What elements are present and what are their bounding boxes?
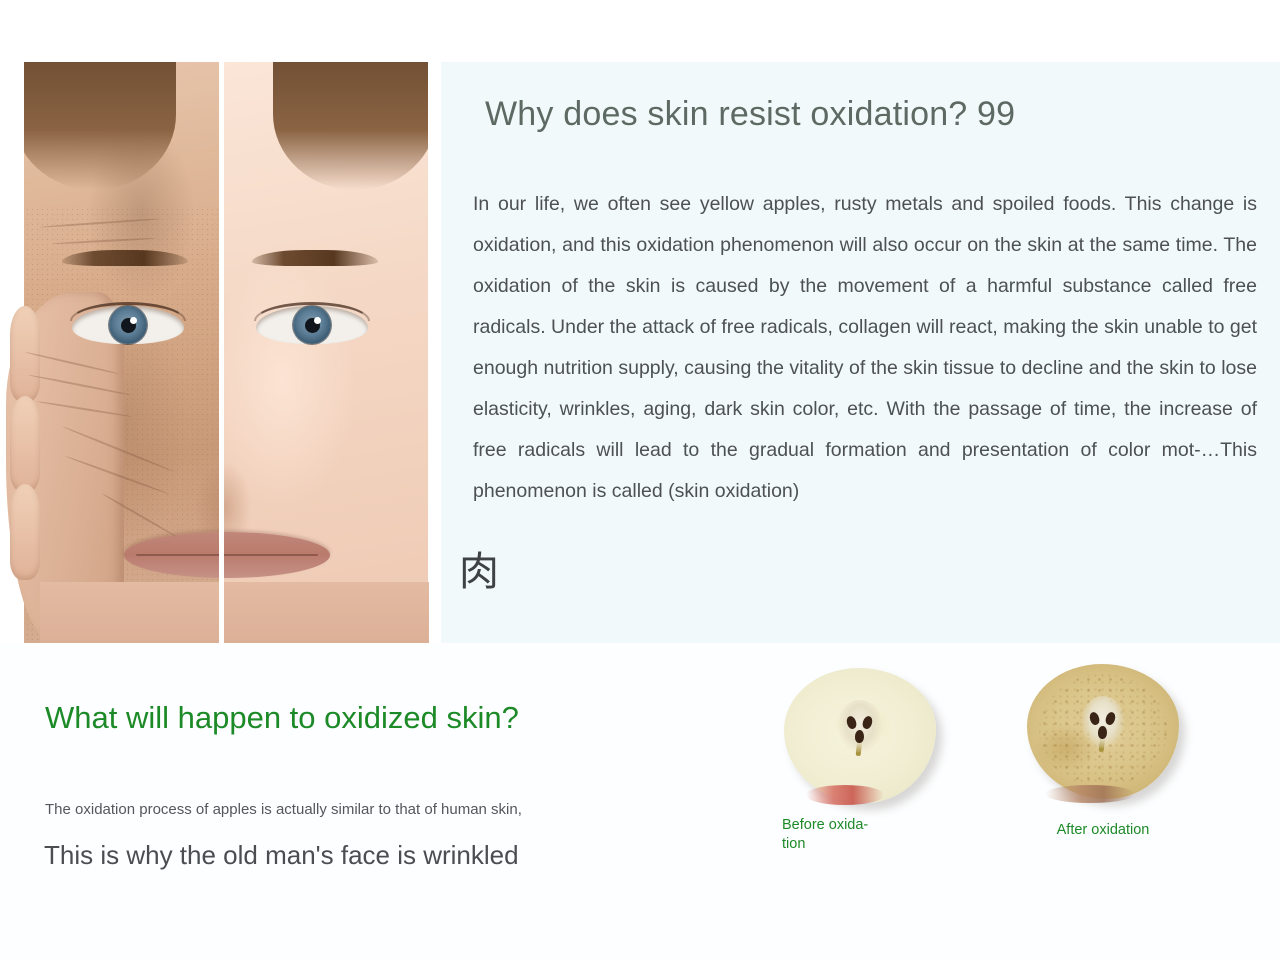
- neck: [40, 582, 429, 643]
- apple-skin: [806, 785, 884, 805]
- eyebrow-left: [62, 250, 188, 266]
- eye-left: [72, 300, 184, 350]
- apple-caption-after: After oxidation: [1018, 821, 1188, 840]
- top-section: Why does skin resist oxidation? 99 In ou…: [0, 0, 1280, 644]
- core-star: [1081, 696, 1125, 748]
- apple-figure-after: After oxidation: [1018, 658, 1188, 840]
- apple-core: [1081, 696, 1125, 748]
- wrinkle-conclusion-note: This is why the old man's face is wrinkl…: [44, 837, 519, 873]
- lips: [124, 532, 330, 578]
- article-panel: Why does skin resist oxidation? 99 In ou…: [441, 62, 1280, 643]
- face-illustration: [0, 62, 441, 643]
- apple-skin: [1045, 785, 1135, 803]
- apple-core: [838, 700, 882, 752]
- oxidized-apple-image: [1021, 658, 1186, 803]
- eye-right: [256, 300, 368, 350]
- apple-figure-before: Before oxida- tion: [775, 662, 945, 854]
- apple-analogy-note: The oxidation process of apples is actua…: [45, 799, 522, 821]
- article-body-text: In our life, we often see yellow apples,…: [473, 184, 1257, 512]
- apple-seed: [1098, 726, 1107, 739]
- eyebrow-right: [252, 250, 378, 266]
- photo-backdrop-right: [428, 62, 441, 643]
- bottom-section: What will happen to oxidized skin? The o…: [0, 644, 1280, 960]
- before-after-divider: [219, 62, 224, 643]
- apple-caption-before: Before oxida- tion: [775, 816, 878, 854]
- eyelid: [70, 302, 186, 321]
- eyelid: [254, 302, 370, 321]
- article-title: Why does skin resist oxidation? 99: [485, 92, 1245, 136]
- split-face-comparison-photo: [0, 62, 441, 643]
- section-heading: What will happen to oxidized skin?: [45, 699, 519, 737]
- finger: [10, 396, 40, 492]
- apple-seed: [855, 730, 864, 743]
- core-star: [838, 700, 882, 752]
- fresh-apple-image: [778, 662, 943, 807]
- finger: [10, 484, 40, 580]
- lip-line: [136, 554, 317, 556]
